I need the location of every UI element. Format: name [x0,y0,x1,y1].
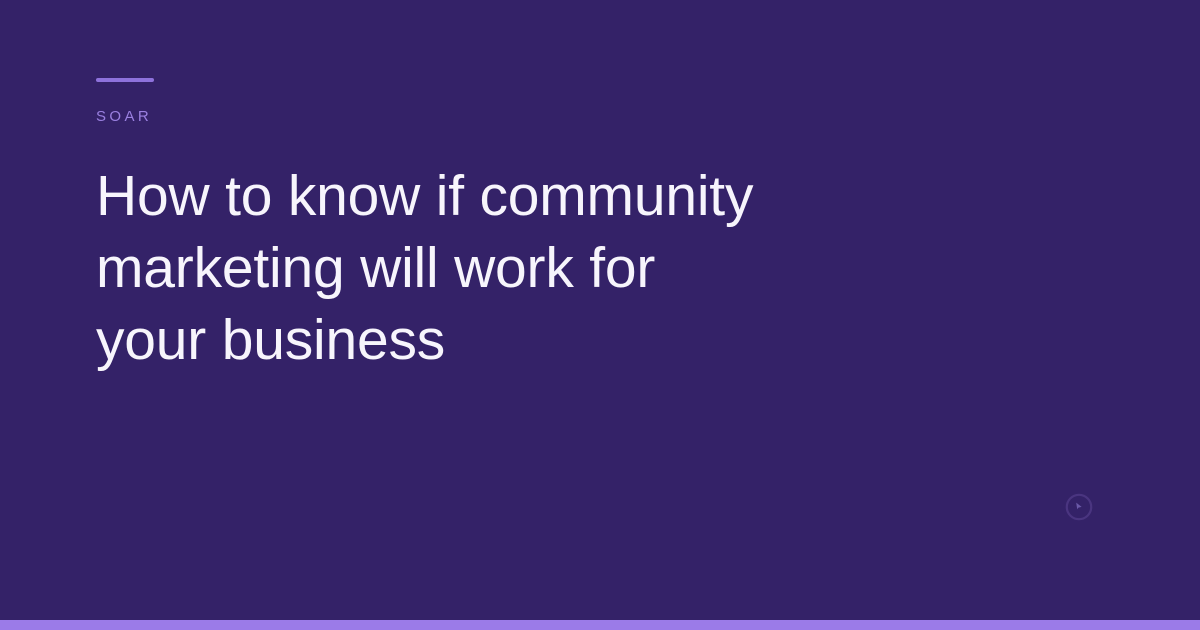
accent-rule-divider [96,78,154,82]
page-title: How to know if community marketing will … [96,160,756,376]
social-share-card: SOAR How to know if community marketing … [0,0,1200,630]
bottom-accent-bar [0,620,1200,630]
send-arrow-circle-icon [1065,493,1093,521]
card-content: SOAR How to know if community marketing … [96,78,796,376]
brand-eyebrow-label: SOAR [96,108,796,126]
